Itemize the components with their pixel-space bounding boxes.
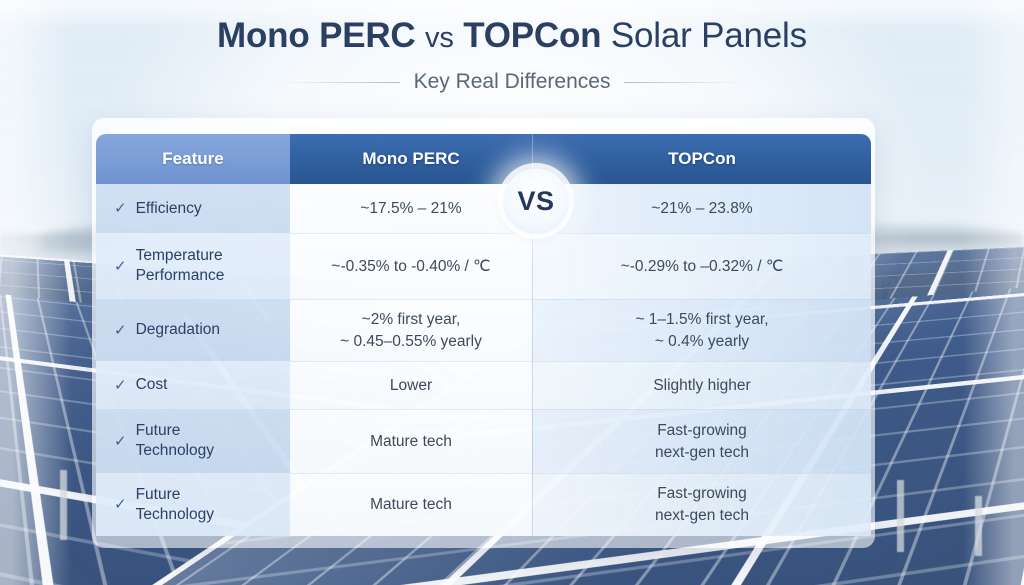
column-header-feature: Feature bbox=[96, 134, 290, 184]
cell-feature: ✓TemperaturePerformance bbox=[96, 233, 290, 299]
cell-mono-perc-value: ~17.5% – 21% bbox=[360, 198, 461, 220]
cell-value-line: Mature tech bbox=[370, 494, 452, 516]
cell-value-line: next-gen tech bbox=[655, 442, 749, 464]
check-icon: ✓ bbox=[114, 378, 127, 393]
cell-mono-perc-value: Mature tech bbox=[370, 494, 452, 516]
cell-mono-perc-value: Lower bbox=[390, 375, 432, 397]
page-title-segment-solar-panels: Solar Panels bbox=[611, 16, 807, 55]
column-header-mono-perc: Mono PERC bbox=[290, 134, 532, 184]
feature-label-line: Degradation bbox=[136, 320, 220, 340]
check-icon: ✓ bbox=[114, 434, 127, 449]
feature-label: TemperaturePerformance bbox=[136, 246, 225, 286]
cell-value-line: ~-0.29% to –0.32% / ℃ bbox=[621, 256, 784, 278]
page-title-segment-mono-perc: Mono PERC bbox=[217, 16, 415, 55]
table-row[interactable]: ✓TemperaturePerformance~-0.35% to -0.40%… bbox=[96, 233, 871, 299]
feature-label-line: Temperature bbox=[136, 246, 225, 266]
cell-value-line: ~21% – 23.8% bbox=[651, 198, 752, 220]
feature-label-line: Cost bbox=[136, 375, 168, 395]
cell-value-line: ~-0.35% to -0.40% / ℃ bbox=[331, 256, 490, 278]
table-row[interactable]: ✓Efficiency~17.5% – 21%~21% – 23.8% bbox=[96, 184, 871, 233]
cell-value-line: Mature tech bbox=[370, 431, 452, 453]
feature-label: FutureTechnology bbox=[136, 421, 214, 461]
page-title-segment-topcon: TOPCon bbox=[463, 16, 601, 55]
table-header-row: Feature Mono PERC TOPCon bbox=[96, 134, 871, 184]
subtitle: Key Real Differences bbox=[414, 70, 611, 94]
cell-topcon: ~21% – 23.8% bbox=[532, 184, 871, 233]
cell-feature: ✓Degradation bbox=[96, 299, 290, 361]
feature-label: FutureTechnology bbox=[136, 485, 214, 525]
cell-value-line: Slightly higher bbox=[653, 375, 750, 397]
subtitle-rule-left bbox=[280, 82, 400, 83]
cell-topcon: ~ 1–1.5% first year,~ 0.4% yearly bbox=[532, 299, 871, 361]
feature-label-line: Technology bbox=[136, 505, 214, 525]
feature-label-line: Future bbox=[136, 485, 214, 505]
cell-mono-perc-value: ~-0.35% to -0.40% / ℃ bbox=[331, 256, 490, 278]
vs-badge-label: VS bbox=[517, 186, 554, 217]
cell-feature: ✓FutureTechnology bbox=[96, 473, 290, 536]
cell-topcon-value: Fast-growingnext-gen tech bbox=[655, 483, 749, 527]
cell-feature: ✓FutureTechnology bbox=[96, 409, 290, 473]
check-icon: ✓ bbox=[114, 497, 127, 512]
subtitle-row: Key Real Differences bbox=[0, 70, 1024, 94]
page-title: Mono PERC vs TOPCon Solar Panels bbox=[0, 16, 1024, 56]
cell-value-line: Fast-growing bbox=[655, 420, 749, 442]
cell-feature: ✓Efficiency bbox=[96, 184, 290, 233]
feature-label-line: Performance bbox=[136, 266, 225, 286]
cell-value-line: ~2% first year, bbox=[340, 309, 482, 331]
cell-value-line: next-gen tech bbox=[655, 505, 749, 527]
cell-mono-perc: Lower bbox=[290, 361, 532, 409]
feature-label-line: Technology bbox=[136, 441, 214, 461]
cell-topcon-value: ~-0.29% to –0.32% / ℃ bbox=[621, 256, 784, 278]
subtitle-rule-right bbox=[624, 82, 744, 83]
cell-mono-perc-value: ~2% first year,~ 0.45–0.55% yearly bbox=[340, 309, 482, 353]
cell-mono-perc: Mature tech bbox=[290, 473, 532, 536]
cell-value-line: ~ 0.4% yearly bbox=[635, 331, 768, 353]
vs-badge: VS bbox=[503, 168, 569, 234]
page-title-segment-vs: vs bbox=[425, 22, 454, 54]
table-body: ✓Efficiency~17.5% – 21%~21% – 23.8%✓Temp… bbox=[96, 184, 871, 536]
table-header: Feature Mono PERC TOPCon bbox=[96, 134, 871, 184]
cell-topcon: Fast-growingnext-gen tech bbox=[532, 409, 871, 473]
cell-mono-perc: ~-0.35% to -0.40% / ℃ bbox=[290, 233, 532, 299]
cell-topcon-value: Fast-growingnext-gen tech bbox=[655, 420, 749, 464]
cell-topcon: Fast-growingnext-gen tech bbox=[532, 473, 871, 536]
cell-topcon-value: ~21% – 23.8% bbox=[651, 198, 752, 220]
table-row[interactable]: ✓CostLowerSlightly higher bbox=[96, 361, 871, 409]
cell-topcon: ~-0.29% to –0.32% / ℃ bbox=[532, 233, 871, 299]
cell-value-line: ~17.5% – 21% bbox=[360, 198, 461, 220]
table-row[interactable]: ✓FutureTechnologyMature techFast-growing… bbox=[96, 409, 871, 473]
check-icon: ✓ bbox=[114, 323, 127, 338]
table-row[interactable]: ✓FutureTechnologyMature techFast-growing… bbox=[96, 473, 871, 536]
cell-value-line: Lower bbox=[390, 375, 432, 397]
check-icon: ✓ bbox=[114, 201, 127, 216]
cell-mono-perc: ~17.5% – 21% bbox=[290, 184, 532, 233]
cell-mono-perc: Mature tech bbox=[290, 409, 532, 473]
comparison-table: Feature Mono PERC TOPCon ✓Efficiency~17.… bbox=[96, 134, 871, 536]
feature-label-line: Future bbox=[136, 421, 214, 441]
cell-value-line: Fast-growing bbox=[655, 483, 749, 505]
check-icon: ✓ bbox=[114, 259, 127, 274]
cell-feature: ✓Cost bbox=[96, 361, 290, 409]
cell-mono-perc: ~2% first year,~ 0.45–0.55% yearly bbox=[290, 299, 532, 361]
header-block: Mono PERC vs TOPCon Solar Panels Key Rea… bbox=[0, 16, 1024, 94]
feature-label: Efficiency bbox=[136, 199, 202, 219]
cell-topcon: Slightly higher bbox=[532, 361, 871, 409]
column-header-topcon: TOPCon bbox=[532, 134, 871, 184]
feature-label: Cost bbox=[136, 375, 168, 395]
cell-topcon-value: Slightly higher bbox=[653, 375, 750, 397]
feature-label-line: Efficiency bbox=[136, 199, 202, 219]
table-row[interactable]: ✓Degradation~2% first year,~ 0.45–0.55% … bbox=[96, 299, 871, 361]
feature-label: Degradation bbox=[136, 320, 220, 340]
cell-mono-perc-value: Mature tech bbox=[370, 431, 452, 453]
cell-value-line: ~ 0.45–0.55% yearly bbox=[340, 331, 482, 353]
cell-topcon-value: ~ 1–1.5% first year,~ 0.4% yearly bbox=[635, 309, 768, 353]
cell-value-line: ~ 1–1.5% first year, bbox=[635, 309, 768, 331]
